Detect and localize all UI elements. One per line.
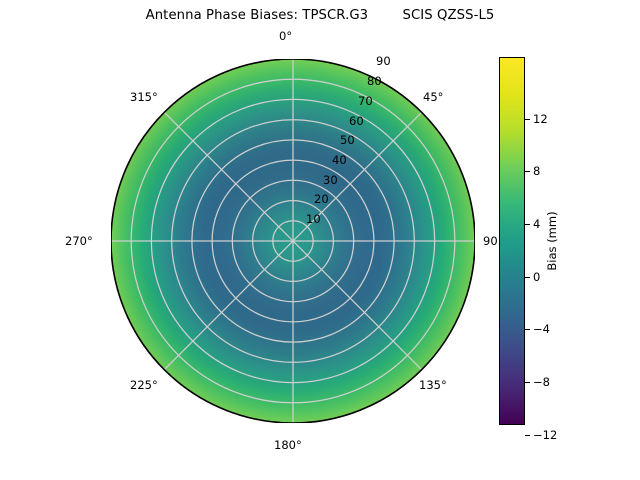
colorbar-tick-m4 — [525, 329, 530, 330]
colorbar-tick-0 — [525, 277, 530, 278]
theta-tick-225: 225° — [130, 378, 158, 392]
r-tick-40: 40 — [332, 153, 347, 167]
r-tick-90: 90 — [376, 54, 391, 68]
colorbar-gradient — [499, 57, 525, 425]
colorbar-tick-8 — [525, 171, 530, 172]
colorbar[interactable]: 12 8 4 0 −4 −8 −12 — [499, 57, 525, 425]
colorbar-tick-m8 — [525, 382, 530, 383]
r-tick-80: 80 — [367, 74, 382, 88]
polar-axes-svg — [111, 59, 475, 423]
colorbar-ticklabel-m8: −8 — [533, 375, 550, 389]
page-title: Antenna Phase Biases: TPSCR.G3 SCIS QZSS… — [0, 8, 640, 23]
theta-tick-315: 315° — [130, 90, 158, 104]
theta-tick-180: 180° — [274, 438, 302, 452]
figure-canvas: Antenna Phase Biases: TPSCR.G3 SCIS QZSS… — [0, 0, 640, 480]
theta-tick-0: 0° — [279, 29, 292, 43]
colorbar-ticklabel-8: 8 — [533, 164, 540, 178]
colorbar-axis-label: Bias (mm) — [545, 211, 559, 270]
theta-tick-45: 45° — [423, 90, 443, 104]
colorbar-ticklabel-m12: −12 — [533, 428, 557, 442]
theta-tick-135: 135° — [419, 378, 447, 392]
colorbar-tick-m12 — [525, 435, 530, 436]
r-tick-30: 30 — [323, 173, 338, 187]
colorbar-ticklabel-0: 0 — [533, 270, 540, 284]
colorbar-ticklabel-12: 12 — [533, 112, 548, 126]
colorbar-ticklabel-m4: −4 — [533, 322, 550, 336]
theta-tick-90: 90 — [483, 234, 498, 248]
r-tick-20: 20 — [314, 192, 329, 206]
polar-gridlines — [111, 59, 475, 423]
colorbar-tick-12 — [525, 119, 530, 120]
colorbar-ticklabel-4: 4 — [533, 217, 540, 231]
r-tick-50: 50 — [340, 133, 355, 147]
r-tick-10: 10 — [306, 212, 321, 226]
r-tick-60: 60 — [349, 114, 364, 128]
polar-plot[interactable]: 0° 45° 90 135° 180° 225° 270° 315° 10 20… — [111, 59, 475, 423]
colorbar-tick-4 — [525, 224, 530, 225]
r-tick-70: 70 — [358, 94, 373, 108]
theta-tick-270: 270° — [65, 234, 93, 248]
